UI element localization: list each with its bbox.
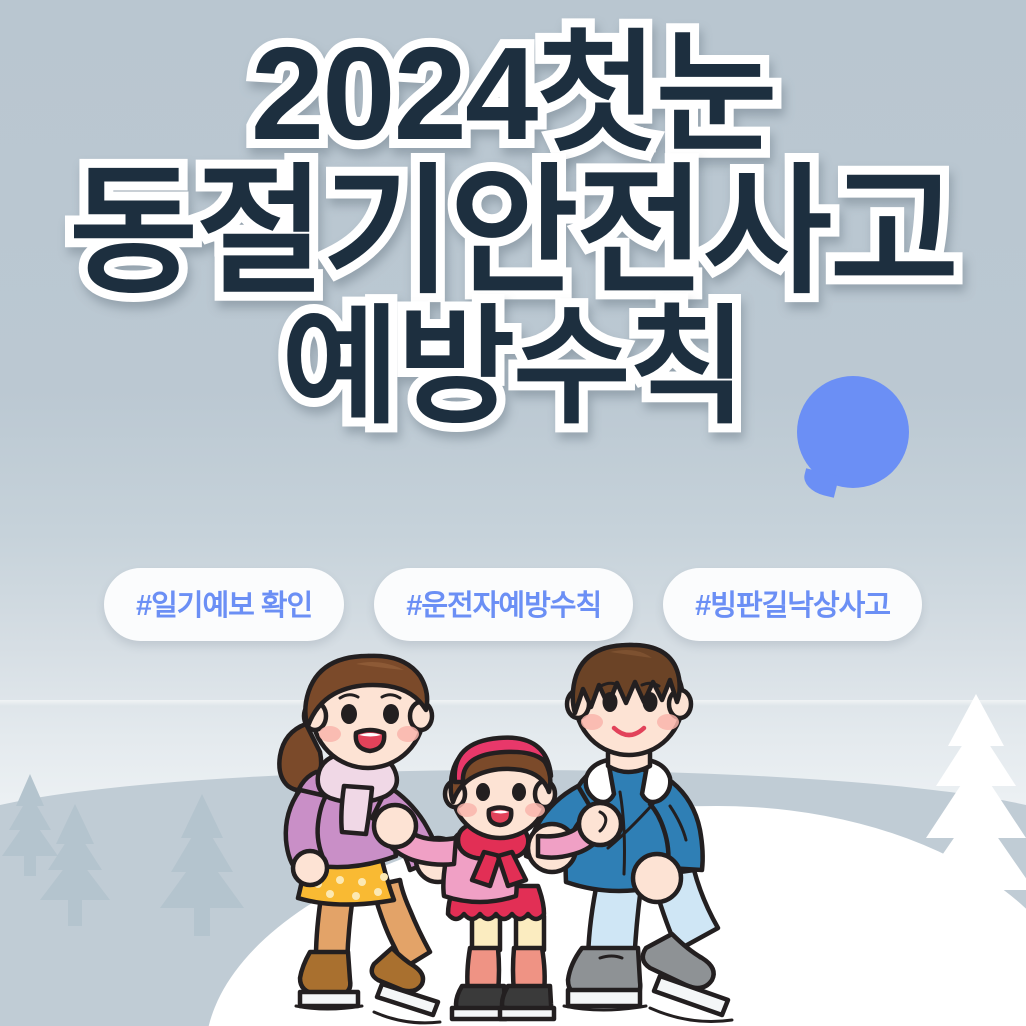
figure-father: [526, 645, 732, 1022]
poster-canvas: 2024첫눈 동절기안전사고 예방수칙 #일기예보 확인 #운전자예방수칙 #빙…: [0, 0, 1026, 1026]
family-skating-illustration: .ln{stroke:#231f20;stroke-width:4.5;stro…: [0, 0, 1026, 1026]
